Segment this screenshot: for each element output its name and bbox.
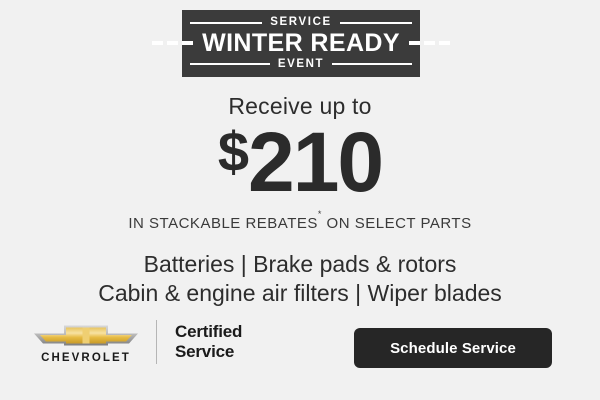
- badge-top-label: SERVICE: [270, 17, 331, 29]
- currency-symbol: $: [218, 120, 248, 183]
- chevrolet-brand-block: CHEVROLET: [30, 320, 142, 365]
- certified-line-1: Certified: [175, 322, 242, 342]
- badge-event-row: EVENT: [182, 57, 420, 72]
- rebate-text-suffix: ON SELECT PARTS: [322, 215, 472, 232]
- parts-line-2: Cabin & engine air filters | Wiper blade…: [0, 279, 600, 308]
- rebate-text: IN STACKABLE REBATES: [128, 215, 318, 232]
- winter-ready-event-badge: SERVICE WINTER READY EVENT: [182, 10, 420, 77]
- badge-dashes-left: [152, 41, 193, 45]
- brand-divider: [156, 320, 157, 364]
- brand-lockup: CHEVROLET Certified Service: [30, 320, 242, 365]
- badge-dashes-right: [409, 41, 450, 45]
- amount-value: 210: [248, 115, 382, 209]
- chevrolet-wordmark: CHEVROLET: [41, 353, 131, 365]
- parts-line-1: Batteries | Brake pads & rotors: [0, 250, 600, 279]
- chevrolet-bowtie-icon: [31, 320, 141, 350]
- promo-ad-card: SERVICE WINTER READY EVENT Receive up to…: [0, 0, 600, 400]
- badge-rule-right: [340, 22, 412, 24]
- certified-service-lockup: Certified Service: [175, 322, 242, 363]
- footnote-marker: *: [318, 209, 322, 219]
- badge-rule-right-bottom: [332, 63, 412, 65]
- badge-title-row: WINTER READY: [182, 30, 420, 56]
- badge-rule-left-bottom: [190, 63, 270, 65]
- rebate-description: IN STACKABLE REBATES* ON SELECT PARTS: [0, 214, 600, 232]
- ad-footer: CHEVROLET Certified Service Schedule Ser…: [0, 318, 600, 380]
- offer-amount: $210: [0, 120, 600, 204]
- schedule-service-button[interactable]: Schedule Service: [354, 328, 552, 368]
- certified-line-2: Service: [175, 342, 242, 362]
- badge-title: WINTER READY: [193, 31, 409, 56]
- badge-rule-left: [190, 22, 262, 24]
- badge-bottom-label: EVENT: [278, 59, 324, 71]
- eligible-parts-list: Batteries | Brake pads & rotors Cabin & …: [0, 250, 600, 309]
